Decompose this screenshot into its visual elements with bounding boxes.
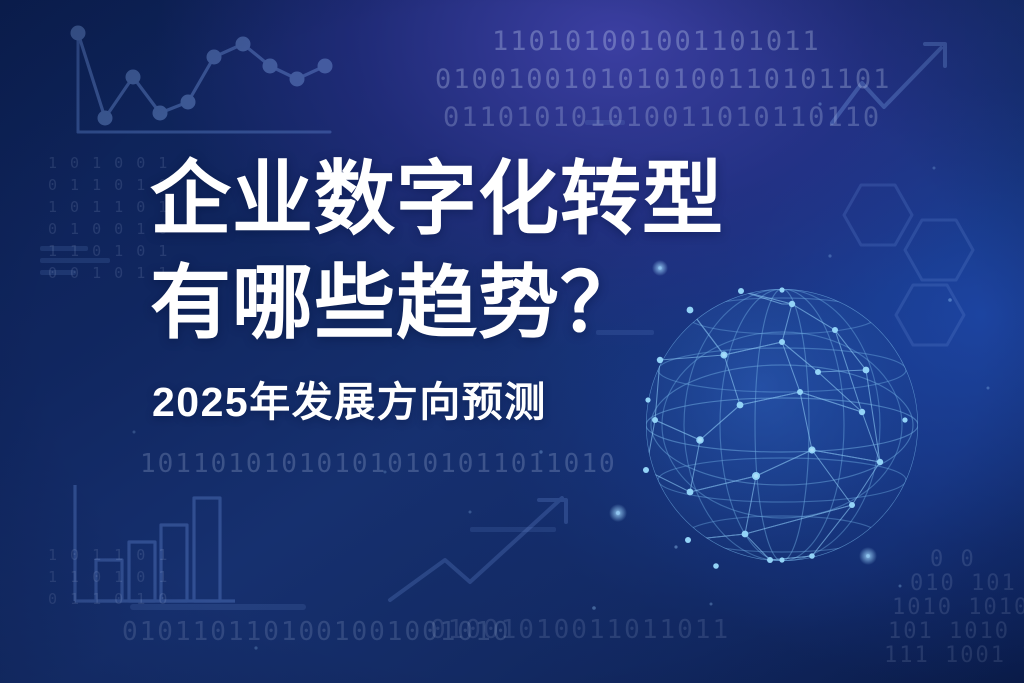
headline-layer: 企业数字化转型 有哪些趋势？ 2025年发展方向预测 — [0, 0, 1024, 683]
title-line-1: 企业数字化转型 — [150, 148, 830, 252]
page-title: 企业数字化转型 有哪些趋势？ — [150, 148, 830, 356]
page-subtitle: 2025年发展方向预测 — [152, 368, 547, 428]
title-line-2: 有哪些趋势？ — [150, 252, 830, 356]
poster-canvas: 110101001001101011 010010010101010011010… — [0, 0, 1024, 683]
